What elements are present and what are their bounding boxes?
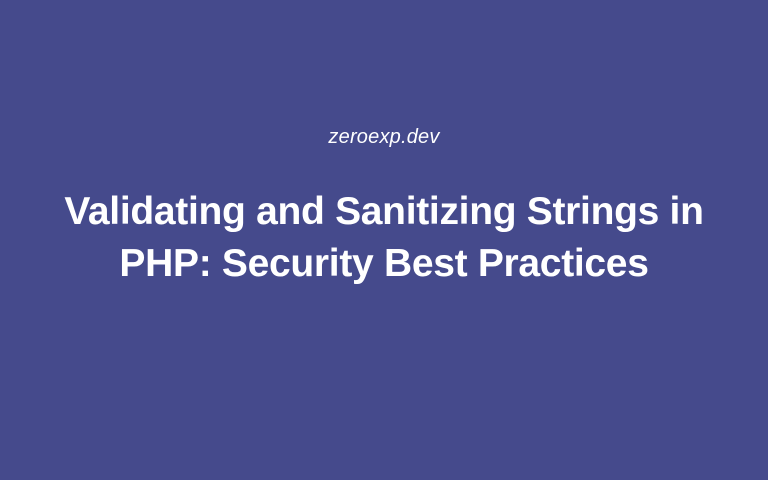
page-title: Validating and Sanitizing Strings in PHP… [48,186,720,290]
site-name: zeroexp.dev [328,124,439,150]
social-share-card: zeroexp.dev Validating and Sanitizing St… [0,0,768,480]
card-content: zeroexp.dev Validating and Sanitizing St… [0,0,768,316]
